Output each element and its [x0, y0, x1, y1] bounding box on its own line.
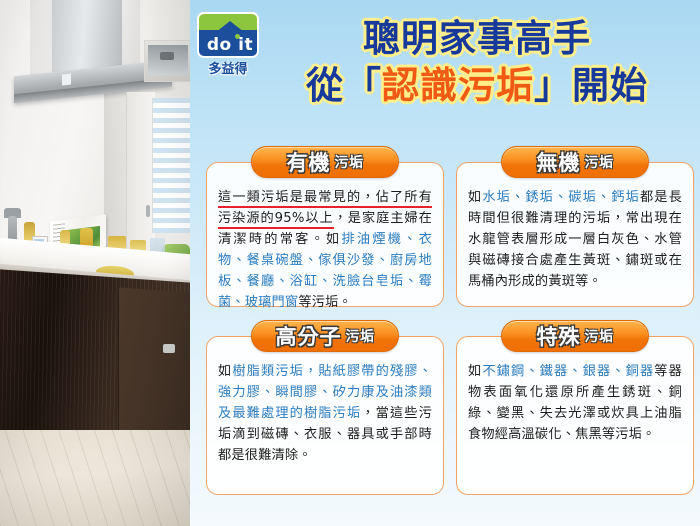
card-organic-soil: 有機 污垢 這一類污垢是最常見的，佔了所有污染源的95%以上，是家庭主婦在清潔時…	[206, 162, 444, 307]
card-special-plain-text-0: 如	[468, 364, 482, 379]
card-organic-heading-main: 有機	[287, 147, 331, 177]
card-inorganic-heading-main: 無機	[537, 147, 581, 177]
card-polymer-body: 如樹脂類污垢，貼紙膠帶的殘膠、強力膠、瞬間膠、矽力康及油漆類及最難處理的樹脂污垢…	[218, 361, 432, 466]
card-inorganic-highlight-text: 水垢、銹垢、碳垢、鈣垢	[482, 190, 640, 205]
kitchen-photo	[0, 0, 190, 526]
card-inorganic-body: 如水垢、銹垢、碳垢、鈣垢都是長時間但很難清理的污垢，常出現在水龍管表層形成一層白…	[468, 187, 682, 292]
card-organic-body: 這一類污垢是最常見的，佔了所有污染源的95%以上，是家庭主婦在清潔時的常客。如排…	[218, 187, 432, 313]
card-polymer-header-pill: 高分子 污垢	[251, 320, 399, 352]
card-polymer-heading-sub: 污垢	[346, 326, 375, 346]
card-inorganic-header-pill: 無機 污垢	[501, 146, 649, 178]
card-polymer-plain-text-0: 如	[218, 364, 232, 379]
card-inorganic-heading-sub: 污垢	[585, 152, 614, 172]
card-special-header-pill: 特殊 污垢	[501, 320, 649, 352]
title-line-2-accent: 認識污垢	[382, 64, 534, 107]
card-polymer-heading-main: 高分子	[276, 321, 342, 351]
logo-roof-shape	[211, 21, 249, 36]
infographic-canvas: do it 多益得 聰明家事高手 從「認識污垢」開始 有機 污垢 這一類污垢是最…	[0, 0, 700, 526]
card-special-heading-main: 特殊	[537, 321, 581, 351]
card-special-heading-sub: 污垢	[585, 326, 614, 346]
title-line-2-prefix: 從「	[306, 64, 382, 107]
card-organic-plain-text-2: 等污垢。	[298, 295, 352, 310]
logo-house-icon: do it	[197, 12, 259, 58]
title-line-2-suffix: 」開始	[534, 64, 648, 107]
card-special-soil: 特殊 污垢 如不鏽鋼、鐵器、銀器、銅器等器物表面氧化還原所產生銹斑、銅綠、變黑、…	[456, 336, 694, 495]
brand-logo: do it 多益得	[197, 12, 259, 74]
title-line-1: 聰明家事高手	[262, 18, 692, 61]
photo-vignette	[0, 0, 190, 526]
content-panel: do it 多益得 聰明家事高手 從「認識污垢」開始 有機 污垢 這一類污垢是最…	[190, 0, 700, 526]
card-inorganic-soil: 無機 污垢 如水垢、銹垢、碳垢、鈣垢都是長時間但很難清理的污垢，常出現在水龍管表…	[456, 162, 694, 307]
card-organic-heading-sub: 污垢	[335, 152, 364, 172]
title-line-2: 從「認識污垢」開始	[262, 65, 692, 108]
card-polymer-soil: 高分子 污垢 如樹脂類污垢，貼紙膠帶的殘膠、強力膠、瞬間膠、矽力康及油漆類及最難…	[206, 336, 444, 495]
logo-wordmark: do it	[199, 35, 259, 55]
logo-chinese-name: 多益得	[197, 58, 259, 77]
card-special-body: 如不鏽鋼、鐵器、銀器、銅器等器物表面氧化還原所產生銹斑、銅綠、變黑、失去光澤或炊…	[468, 361, 682, 445]
card-organic-header-pill: 有機 污垢	[251, 146, 399, 178]
page-title: 聰明家事高手 從「認識污垢」開始	[262, 18, 692, 108]
card-inorganic-plain-text-0: 如	[468, 190, 482, 205]
card-special-highlight-text: 不鏽鋼、鐵器、銀器、銅器	[482, 364, 654, 379]
